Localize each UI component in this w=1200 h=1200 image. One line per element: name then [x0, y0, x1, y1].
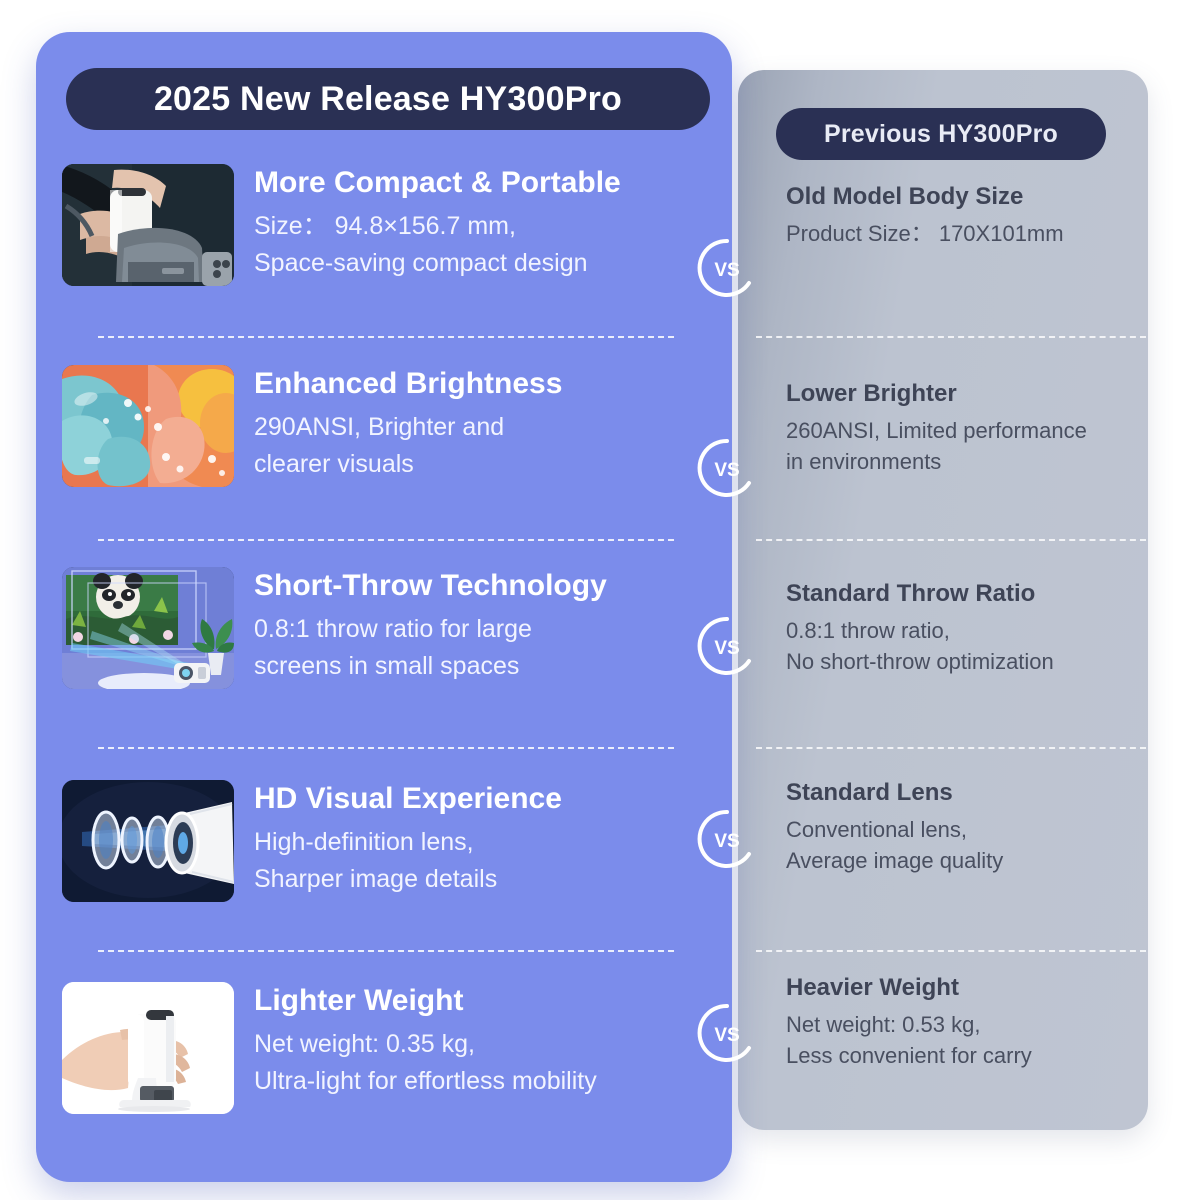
comparison-infographic: 2025 New Release HY300Pro Previous HY300…: [0, 0, 1200, 1200]
feature-title: Short-Throw Technology: [254, 569, 698, 603]
divider-left-3: [98, 747, 674, 749]
old-feature-title: Lower Brighter: [786, 380, 1146, 409]
feature-line-1: 0.8:1 throw ratio for large: [254, 611, 698, 648]
old-feature-line-1: Product Size： 170X101mm: [786, 218, 1146, 250]
previous-model-title-badge: Previous HY300Pro: [776, 108, 1106, 160]
feature-row-compact: More Compact & Portable Size： 94.8×156.7…: [62, 164, 698, 286]
projector-in-backpack-photo: [62, 164, 234, 286]
svg-text:VS: VS: [714, 831, 739, 852]
lens-exploded-view-photo: [62, 780, 234, 902]
old-row-throw-ratio: Standard Throw Ratio 0.8:1 throw ratio, …: [786, 580, 1146, 678]
feature-text-hd-visual: HD Visual Experience High-definition len…: [254, 780, 698, 897]
divider-right-4: [756, 950, 1146, 952]
feature-line-2: Space-saving compact design: [254, 245, 698, 282]
feature-line-2: Sharper image details: [254, 861, 698, 898]
divider-right-2: [756, 539, 1146, 541]
old-feature-title: Heavier Weight: [786, 974, 1146, 1003]
divider-right-1: [756, 336, 1146, 338]
vs-badge-2: VS: [696, 437, 758, 499]
feature-title: HD Visual Experience: [254, 782, 698, 816]
divider-left-2: [98, 539, 674, 541]
old-feature-line-1: Net weight: 0.53 kg,: [786, 1009, 1146, 1041]
feature-row-lighter-weight: Lighter Weight Net weight: 0.35 kg, Ultr…: [62, 982, 698, 1114]
hand-holding-projector-photo: [62, 982, 234, 1114]
feature-text-brightness: Enhanced Brightness 290ANSI, Brighter an…: [254, 365, 698, 482]
old-row-lens: Standard Lens Conventional lens, Average…: [786, 779, 1146, 877]
feature-line-1: Net weight: 0.35 kg,: [254, 1026, 698, 1063]
vs-badge-5: VS: [696, 1002, 758, 1064]
old-feature-line-2: Average image quality: [786, 845, 1146, 877]
svg-text:VS: VS: [714, 638, 739, 659]
feature-text-compact: More Compact & Portable Size： 94.8×156.7…: [254, 164, 698, 281]
divider-left-1: [98, 336, 674, 338]
old-row-body-size: Old Model Body Size Product Size： 170X10…: [786, 183, 1146, 249]
old-feature-line-1: Conventional lens,: [786, 814, 1146, 846]
old-row-weight: Heavier Weight Net weight: 0.53 kg, Less…: [786, 974, 1146, 1072]
feature-line-2: screens in small spaces: [254, 648, 698, 685]
vs-badge-3: VS: [696, 615, 758, 677]
old-row-brightness: Lower Brighter 260ANSI, Limited performa…: [786, 380, 1146, 478]
projector-panda-screen-photo: [62, 567, 234, 689]
feature-line-1: 290ANSI, Brighter and: [254, 409, 698, 446]
divider-right-3: [756, 747, 1146, 749]
new-model-title-badge: 2025 New Release HY300Pro: [66, 68, 710, 130]
feature-line-2: clearer visuals: [254, 446, 698, 483]
feature-title: More Compact & Portable: [254, 166, 698, 200]
feature-row-hd-visual: HD Visual Experience High-definition len…: [62, 780, 698, 902]
svg-text:VS: VS: [714, 1025, 739, 1046]
feature-line-2: Ultra-light for effortless mobility: [254, 1063, 698, 1100]
vs-badge-4: VS: [696, 808, 758, 870]
divider-left-4: [98, 950, 674, 952]
feature-line-1: High-definition lens,: [254, 824, 698, 861]
old-feature-line-1: 0.8:1 throw ratio,: [786, 615, 1146, 647]
feature-row-brightness: Enhanced Brightness 290ANSI, Brighter an…: [62, 365, 698, 487]
feature-title: Lighter Weight: [254, 984, 698, 1018]
feature-title: Enhanced Brightness: [254, 367, 698, 401]
feature-line-1: Size： 94.8×156.7 mm,: [254, 208, 698, 245]
feature-text-short-throw: Short-Throw Technology 0.8:1 throw ratio…: [254, 567, 698, 684]
old-feature-line-2: in environments: [786, 446, 1146, 478]
colorful-glossy-flowers-photo: [62, 365, 234, 487]
old-feature-title: Standard Lens: [786, 779, 1146, 808]
old-feature-title: Standard Throw Ratio: [786, 580, 1146, 609]
vs-badge-1: VS: [696, 237, 758, 299]
old-feature-line-2: No short-throw optimization: [786, 646, 1146, 678]
svg-text:VS: VS: [714, 260, 739, 281]
old-feature-title: Old Model Body Size: [786, 183, 1146, 212]
svg-text:VS: VS: [714, 460, 739, 481]
old-feature-line-2: Less convenient for carry: [786, 1040, 1146, 1072]
feature-row-short-throw: Short-Throw Technology 0.8:1 throw ratio…: [62, 567, 698, 689]
feature-text-lighter-weight: Lighter Weight Net weight: 0.35 kg, Ultr…: [254, 982, 698, 1099]
old-feature-line-1: 260ANSI, Limited performance: [786, 415, 1146, 447]
